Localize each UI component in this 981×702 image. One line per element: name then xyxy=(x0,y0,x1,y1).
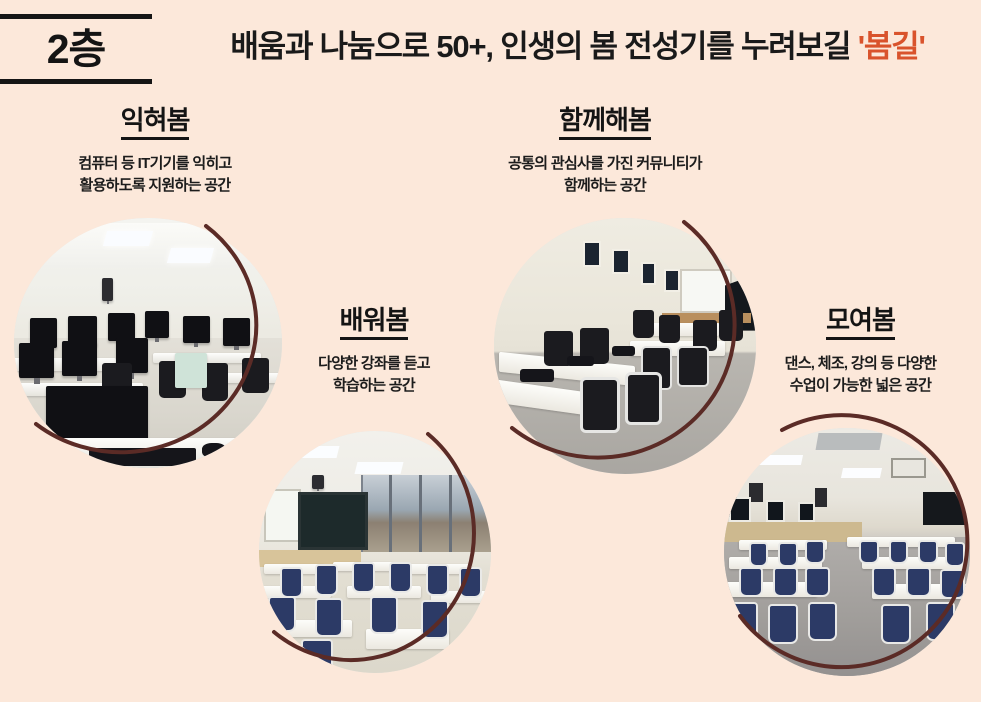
room-scene xyxy=(259,431,491,673)
zone-title: 모여봄 xyxy=(826,306,895,340)
ceiling-light xyxy=(757,455,803,465)
chair xyxy=(778,542,798,567)
chair xyxy=(352,562,375,593)
chair xyxy=(242,358,269,393)
chair xyxy=(268,596,296,632)
zone-description: 다양한 강좌를 듣고 학습하는 공간 xyxy=(262,353,486,397)
wall-sign xyxy=(891,458,925,478)
chair xyxy=(677,346,708,387)
chair xyxy=(906,567,931,597)
chair xyxy=(301,639,333,673)
zone-description: 컴퓨터 등 IT기기를 익히고 활용하도록 지원하는 공간 xyxy=(0,153,310,197)
ceiling-light xyxy=(285,446,339,458)
chair xyxy=(872,567,897,597)
chair xyxy=(625,372,662,426)
ceiling-light xyxy=(103,231,153,246)
chair xyxy=(719,310,743,341)
page-title-accent: '봄길' xyxy=(858,29,925,64)
chair xyxy=(926,602,956,642)
whiteboard xyxy=(264,489,301,542)
monitor xyxy=(145,311,169,339)
ceiling-vent xyxy=(816,433,883,450)
equipment xyxy=(520,369,554,382)
photo-node-moyeobom xyxy=(716,420,978,684)
tv-screen xyxy=(923,492,970,524)
keyboard xyxy=(89,448,196,466)
equipment xyxy=(612,346,636,356)
window xyxy=(798,502,815,522)
monitor xyxy=(223,318,250,346)
zone-label-baewobom: 배워봄 다양한 강좌를 듣고 학습하는 공간 xyxy=(262,306,486,396)
tv-screen xyxy=(298,492,368,550)
photo-node-baewobom xyxy=(252,424,500,680)
monitor-foreground xyxy=(46,386,148,446)
chair xyxy=(315,564,338,595)
chair xyxy=(881,604,911,644)
window xyxy=(766,500,786,522)
wall-speaker xyxy=(815,488,827,508)
chair xyxy=(945,542,965,567)
chair xyxy=(768,604,798,644)
monitor xyxy=(108,313,135,341)
mouse xyxy=(202,443,226,458)
zone-description: 공통의 관심사를 가진 커뮤니티가 함께하는 공간 xyxy=(450,153,760,197)
chair xyxy=(859,540,879,565)
chair xyxy=(580,377,619,433)
ceiling-light xyxy=(355,462,404,474)
chair xyxy=(315,598,343,637)
storage-cabinet xyxy=(175,353,207,388)
page-title: 배움과 나눔으로 50+, 인생의 봄 전성기를 누려보길 '봄길' xyxy=(180,28,975,65)
lecture-classroom-photo xyxy=(259,431,491,673)
wall-speaker xyxy=(102,278,113,301)
chair xyxy=(280,567,303,598)
zone-label-moyeobom: 모여봄 댄스, 체조, 강의 등 다양한 수업이 가능한 넓은 공간 xyxy=(740,306,981,396)
window xyxy=(612,249,630,275)
wall-speaker xyxy=(312,475,324,490)
chair xyxy=(633,310,654,338)
chair xyxy=(773,567,798,597)
photo-node-ikhyeobom xyxy=(8,212,288,474)
room-scene xyxy=(14,218,282,468)
chair xyxy=(940,569,965,599)
chair xyxy=(459,567,482,598)
computer-lab-photo xyxy=(14,218,282,468)
window-mullion xyxy=(449,475,452,552)
zone-title: 배워봄 xyxy=(340,306,409,340)
chair xyxy=(659,315,680,343)
header-bottom-rule xyxy=(0,79,152,84)
chair xyxy=(889,540,909,565)
zone-title: 익혀봄 xyxy=(121,106,190,140)
window-wall xyxy=(361,475,491,552)
zone-label-ikhyeobom: 익혀봄 컴퓨터 등 IT기기를 익히고 활용하도록 지원하는 공간 xyxy=(0,106,310,196)
window xyxy=(664,269,680,292)
window xyxy=(583,241,601,267)
chair xyxy=(808,602,838,642)
window-mullion xyxy=(419,475,422,552)
floor-badge: 2층 xyxy=(0,19,152,79)
chair xyxy=(389,562,412,593)
ceiling-light xyxy=(841,468,882,478)
chair xyxy=(421,600,449,639)
room-scene xyxy=(724,428,970,676)
equipment xyxy=(567,356,593,366)
ceiling-light xyxy=(167,248,214,263)
chair xyxy=(918,540,938,565)
zone-description: 댄스, 체조, 강의 등 다양한 수업이 가능한 넓은 공간 xyxy=(740,353,981,397)
zone-label-hamkkehaebom: 함께해봄 공통의 관심사를 가진 커뮤니티가 함께하는 공간 xyxy=(450,106,760,196)
monitor xyxy=(62,341,97,376)
window-mullion xyxy=(389,475,392,552)
chair xyxy=(426,564,449,595)
chair xyxy=(739,567,764,597)
monitor xyxy=(183,316,210,344)
zone-title: 함께해봄 xyxy=(559,106,651,140)
monitor xyxy=(19,343,54,378)
window xyxy=(641,262,657,285)
window xyxy=(729,497,751,522)
chair xyxy=(729,602,759,639)
chair xyxy=(805,567,830,597)
chair xyxy=(370,596,398,635)
large-multipurpose-room-photo xyxy=(724,428,970,676)
chair xyxy=(749,542,769,567)
page-title-main: 배움과 나눔으로 50+, 인생의 봄 전성기를 누려보길 xyxy=(230,29,857,64)
chair xyxy=(805,540,825,565)
poster-canvas: 2층 배움과 나눔으로 50+, 인생의 봄 전성기를 누려보길 '봄길' 익혀… xyxy=(0,0,981,702)
